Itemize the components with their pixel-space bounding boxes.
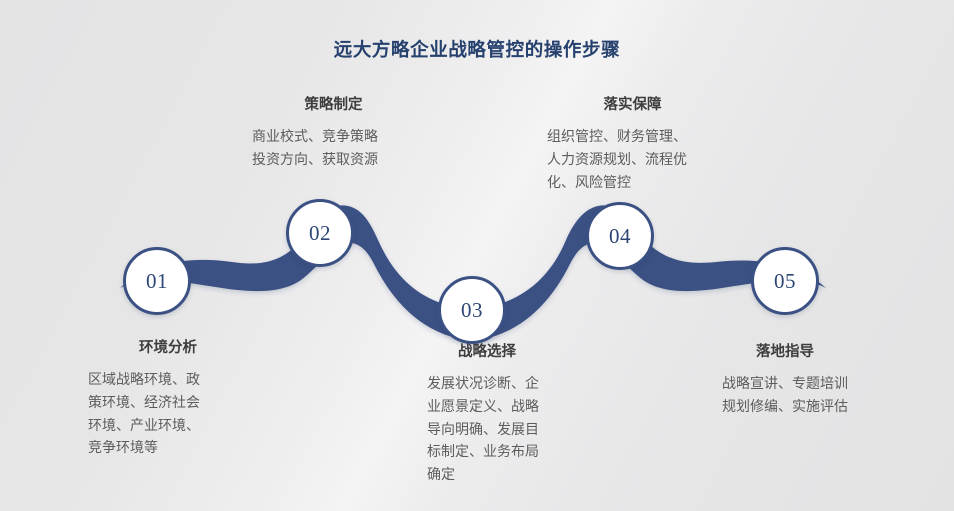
step-number-3: 03: [461, 300, 483, 321]
step-body-3: 发展状况诊断、企 业愿景定义、战略 导向明确、发展目 标制定、业务布局 确定: [427, 372, 547, 485]
step-body-4: 组织管控、财务管理、 人力资源规划、流程优 化、风险管控: [547, 125, 727, 193]
step-label-3: 战略选择 发展状况诊断、企 业愿景定义、战略 导向明确、发展目 标制定、业务布局…: [427, 344, 547, 486]
infographic-canvas: 远大方略企业战略管控的操作步骤 01 02 03 04 05 环境分析 区域战略…: [0, 0, 954, 511]
step-number-2: 02: [309, 223, 331, 244]
step-heading-5: 落地指导: [694, 344, 876, 361]
step-number-4: 04: [609, 226, 631, 247]
step-node-3[interactable]: 03: [438, 276, 506, 344]
step-label-2: 策略制定 商业校式、竞争策略 投资方向、获取资源: [252, 97, 437, 171]
step-label-1: 环境分析 区域战略环境、政 策环境、经济社会 环境、产业环境、 竞争环境等: [88, 340, 248, 459]
step-body-1: 区域战略环境、政 策环境、经济社会 环境、产业环境、 竞争环境等: [88, 368, 248, 459]
step-heading-3: 战略选择: [427, 344, 547, 361]
step-node-2[interactable]: 02: [286, 199, 354, 267]
step-heading-2: 策略制定: [252, 97, 415, 114]
step-node-1[interactable]: 01: [123, 247, 191, 315]
step-body-5: 战略宣讲、专题培训 规划修编、实施评估: [694, 372, 876, 417]
step-number-1: 01: [146, 271, 168, 292]
step-node-4[interactable]: 04: [586, 202, 654, 270]
step-heading-4: 落实保障: [547, 97, 718, 114]
page-title: 远大方略企业战略管控的操作步骤: [0, 36, 954, 62]
step-body-2: 商业校式、竞争策略 投资方向、获取资源: [252, 125, 437, 170]
step-number-5: 05: [774, 271, 796, 292]
step-label-4: 落实保障 组织管控、财务管理、 人力资源规划、流程优 化、风险管控: [547, 97, 727, 193]
step-node-5[interactable]: 05: [751, 247, 819, 315]
step-heading-1: 环境分析: [88, 340, 248, 357]
step-label-5: 落地指导 战略宣讲、专题培训 规划修编、实施评估: [694, 344, 876, 418]
